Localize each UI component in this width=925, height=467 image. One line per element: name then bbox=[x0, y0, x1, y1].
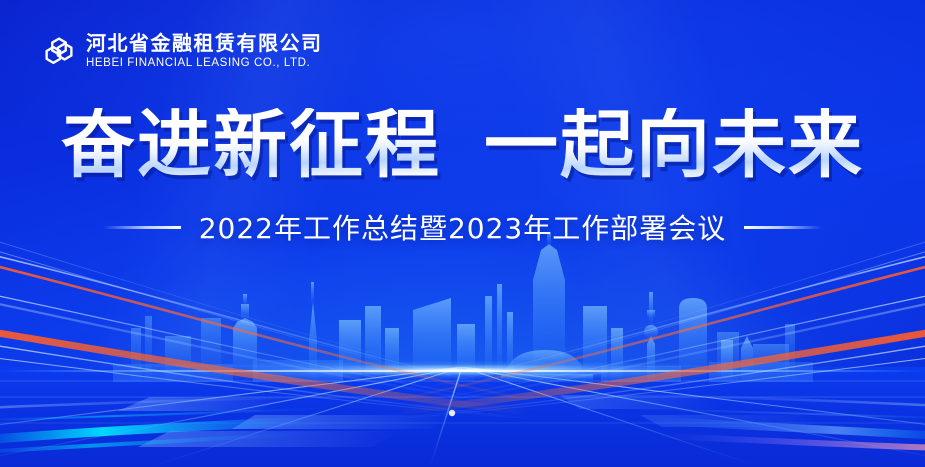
perspective-ground-grid bbox=[0, 367, 925, 467]
company-logo: 河北省金融租赁有限公司 HEBEI FINANCIAL LEASING CO.,… bbox=[41, 33, 323, 70]
tapered-rule-right-icon bbox=[744, 226, 822, 229]
headline-part-1: 奋进新征程 bbox=[61, 108, 441, 182]
ground-grid-icon bbox=[0, 367, 925, 467]
headline-part-2: 一起向未来 bbox=[484, 108, 864, 182]
tapered-rule-left-icon bbox=[103, 226, 181, 229]
logo-text-block: 河北省金融租赁有限公司 HEBEI FINANCIAL LEASING CO.,… bbox=[86, 33, 323, 70]
conference-banner: 河北省金融租赁有限公司 HEBEI FINANCIAL LEASING CO.,… bbox=[0, 0, 925, 467]
subtitle-text: 2022年工作总结暨2023年工作部署会议 bbox=[199, 207, 727, 247]
company-name-en: HEBEI FINANCIAL LEASING CO., LTD. bbox=[86, 58, 323, 70]
company-name-cn: 河北省金融租赁有限公司 bbox=[86, 33, 323, 53]
pinwheel-logo-icon bbox=[41, 33, 77, 69]
city-skyline-silhouette bbox=[113, 232, 813, 382]
subtitle-row: 2022年工作总结暨2023年工作部署会议 bbox=[0, 207, 925, 247]
page-title: 奋进新征程 一起向未来 bbox=[0, 108, 925, 182]
